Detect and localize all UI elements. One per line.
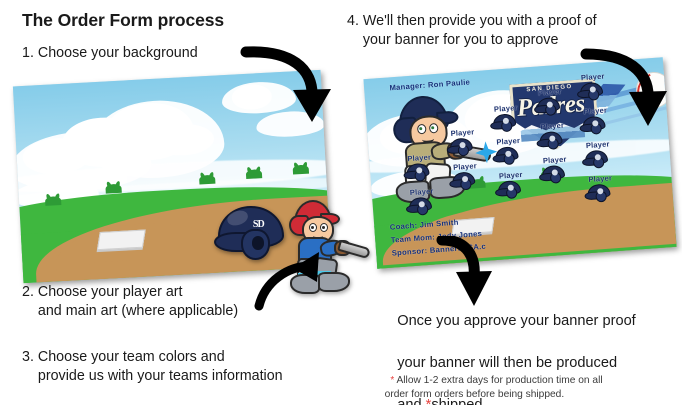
- banner-player-helmet-icon[interactable]: [541, 165, 563, 183]
- banner-proof-card[interactable]: SAN DIEGO Padres: [363, 57, 676, 268]
- character-cleat: [290, 274, 320, 294]
- banner-player-label[interactable]: Player: [407, 153, 431, 164]
- sd-logo-icon: SD: [250, 216, 266, 232]
- banner-player-helmet-icon[interactable]: [536, 97, 558, 115]
- banner-batter-art: [387, 92, 487, 208]
- bush: [105, 184, 121, 194]
- banner-player-helmet-icon[interactable]: [579, 82, 601, 100]
- banner-player-label[interactable]: Player: [496, 136, 520, 147]
- banner-scene: SAN DIEGO Padres: [363, 57, 676, 268]
- page-title: The Order Form process: [22, 10, 224, 31]
- banner-player-helmet-icon[interactable]: [492, 113, 514, 131]
- banner-player-helmet-icon[interactable]: [587, 184, 609, 202]
- batter-pupil: [431, 126, 434, 129]
- banner-player-label[interactable]: Player: [583, 105, 607, 116]
- banner-player-label[interactable]: Player: [494, 103, 518, 114]
- banner-player-helmet-icon[interactable]: [582, 116, 604, 134]
- banner-player-helmet-icon[interactable]: [452, 172, 474, 190]
- banner-player-label[interactable]: Player: [588, 173, 612, 184]
- banner-player-label[interactable]: Player: [499, 170, 523, 181]
- step-1-text: 1. Choose your background: [22, 44, 198, 63]
- navy-batting-helmet[interactable]: SD: [218, 206, 280, 258]
- helmet-ear-hole: [252, 236, 264, 250]
- banner-player-label[interactable]: Player: [410, 186, 434, 197]
- banner-player-helmet-icon[interactable]: [495, 146, 517, 164]
- banner-player-label[interactable]: Player: [450, 127, 474, 138]
- bush: [246, 169, 262, 179]
- footnote: * Allow 1-2 extra days for production ti…: [379, 360, 603, 405]
- character-pupil: [311, 226, 314, 229]
- batter-character-art[interactable]: [276, 200, 358, 292]
- banner-player-label[interactable]: Player: [543, 155, 567, 166]
- step-4-text: 4. We'll then provide you with a proof o…: [347, 12, 597, 50]
- baseball-icon: [635, 71, 674, 110]
- banner-player-helmet-icon[interactable]: [584, 150, 606, 168]
- character-cleat: [318, 272, 350, 292]
- step-2-text: 2. Choose your player art and main art (…: [22, 283, 238, 321]
- banner-player-helmet-icon[interactable]: [497, 180, 519, 198]
- banner-player-helmet-icon[interactable]: [539, 131, 561, 149]
- banner-player-label[interactable]: Player: [586, 139, 610, 150]
- step-3-text: 3. Choose your team colors and provide u…: [22, 348, 283, 386]
- footnote-text: Allow 1-2 extra days for production time…: [379, 375, 603, 400]
- bush: [45, 196, 61, 206]
- banner-player-label[interactable]: Player: [453, 161, 477, 172]
- banner-player-helmet-icon[interactable]: [408, 197, 430, 215]
- bush: [293, 165, 309, 175]
- character-bat: [337, 240, 371, 259]
- bush: [199, 174, 215, 184]
- baseball-seam: [635, 71, 674, 110]
- banner-player-helmet-icon[interactable]: [449, 138, 471, 156]
- banner-player-label[interactable]: Player: [538, 87, 562, 98]
- character-pupil: [322, 226, 325, 229]
- home-plate: [97, 230, 145, 250]
- poster-canvas: The Order Form process 1. Choose your ba…: [0, 0, 682, 405]
- batter-box-dirt: [89, 260, 132, 283]
- banner-player-helmet-icon[interactable]: [406, 163, 428, 181]
- banner-player-label[interactable]: Player: [540, 121, 564, 132]
- banner-player-label[interactable]: Player: [581, 72, 605, 83]
- approval-line-1: Once you approve your banner proof: [397, 313, 636, 329]
- batter-pupil: [419, 127, 422, 130]
